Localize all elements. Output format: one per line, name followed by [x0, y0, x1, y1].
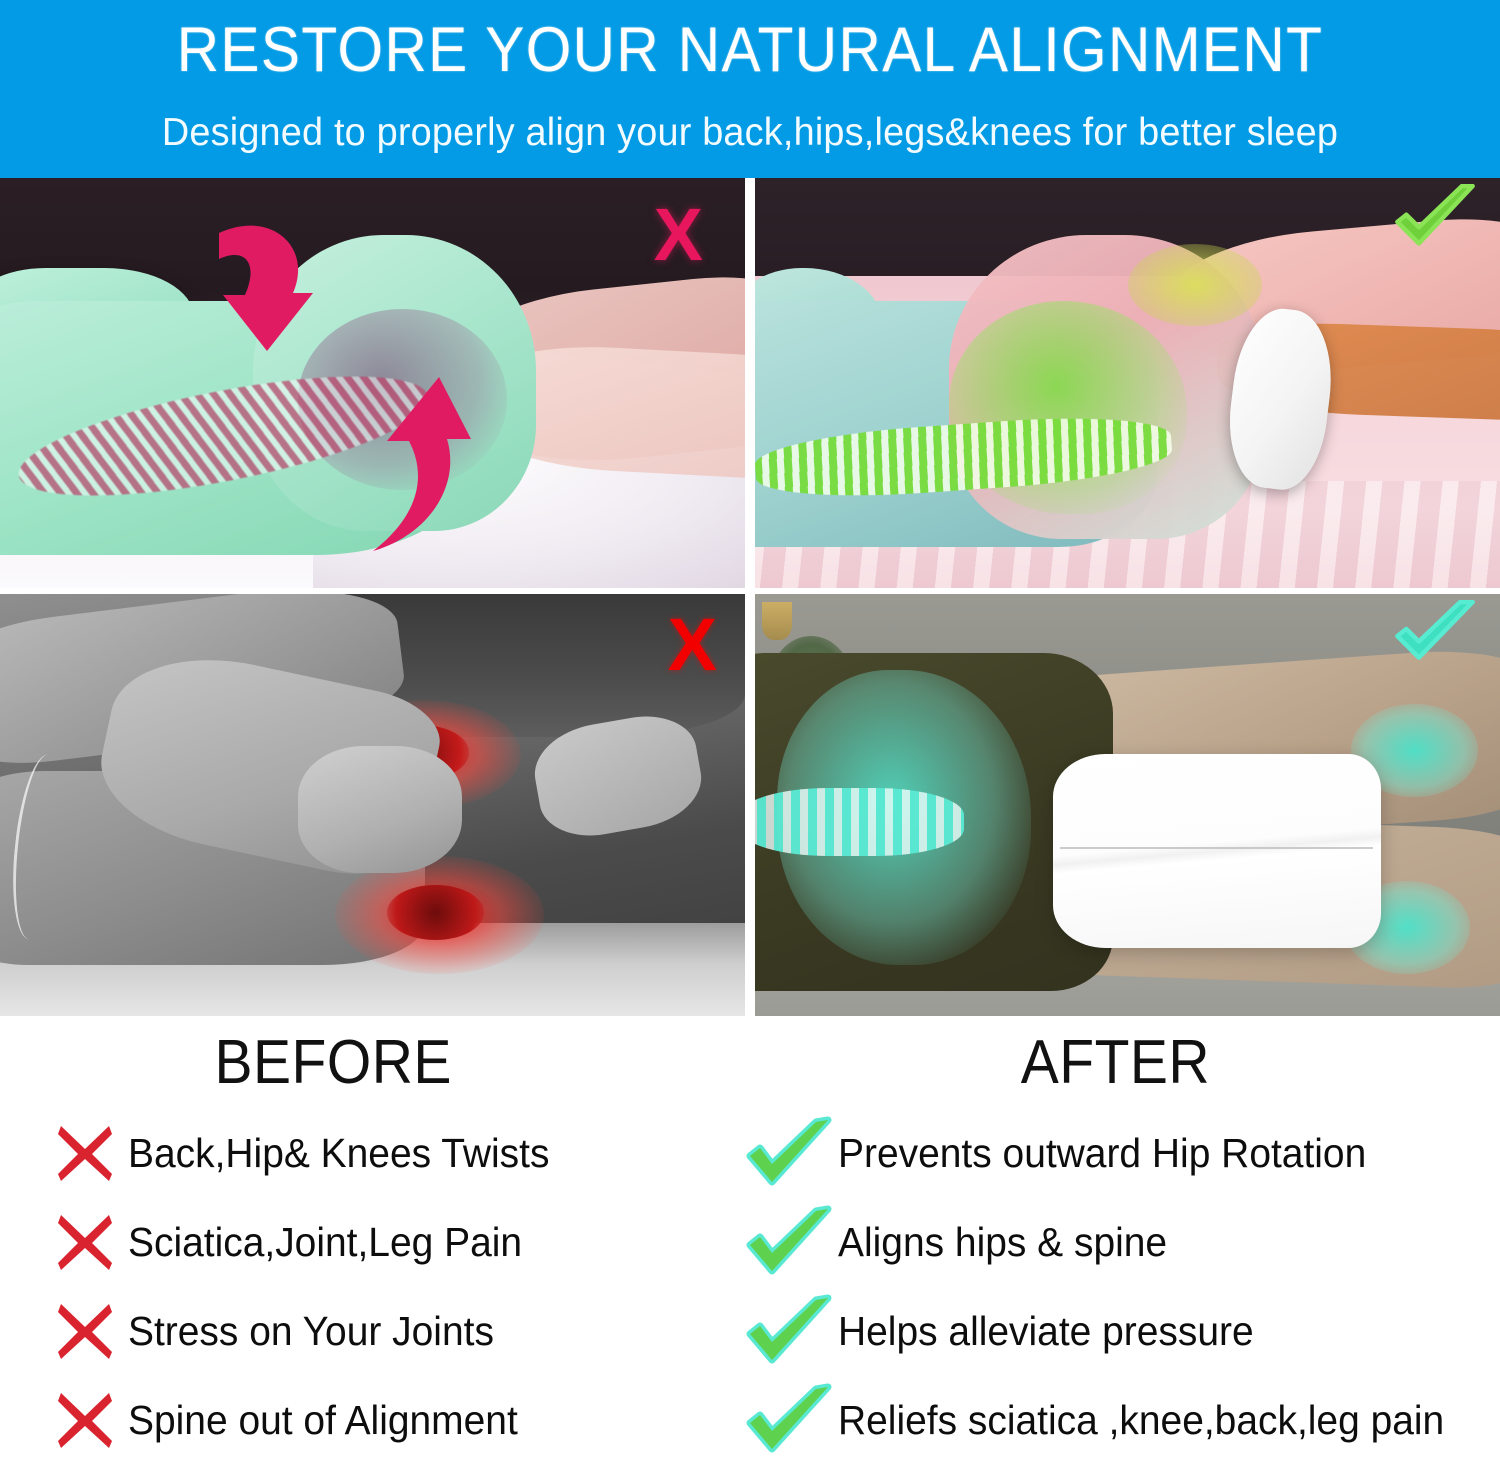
x-mark-overlay-top-left: X	[654, 198, 703, 272]
before-column: BEFORE Back,Hip& Knees Twists Sciatica,J…	[0, 1016, 740, 1447]
list-item: Reliefs sciatica ,knee,back,leg pain	[740, 1375, 1500, 1464]
list-item: Sciatica,Joint,Leg Pain	[0, 1197, 740, 1286]
x-mark-overlay-bottom-left: X	[668, 608, 717, 682]
list-item: Prevents outward Hip Rotation	[740, 1108, 1500, 1197]
product-infographic: RESTORE YOUR NATURAL ALIGNMENT Designed …	[0, 0, 1500, 1447]
check-mark-overlay-top-right	[1392, 184, 1478, 258]
list-item-label: Helps alleviate pressure	[838, 1308, 1254, 1354]
panel-artwork-misaligned	[0, 178, 745, 588]
comparison-image-grid: X	[0, 178, 1500, 1016]
before-heading: BEFORE	[30, 1030, 711, 1096]
check-mark-icon	[746, 1294, 832, 1368]
list-item: Stress on Your Joints	[0, 1286, 740, 1375]
panel-artwork-pillow-support	[755, 594, 1500, 1016]
after-column: AFTER Prevents outward Hip Rotation Alig…	[740, 1016, 1500, 1447]
list-item-label: Prevents outward Hip Rotation	[838, 1130, 1366, 1176]
list-item-label: Back,Hip& Knees Twists	[128, 1130, 549, 1176]
check-mark-icon	[746, 1383, 832, 1457]
check-mark-icon	[746, 1205, 832, 1279]
rotation-arrow-down-icon	[201, 219, 321, 359]
panel-knee-pain: X	[0, 594, 745, 1016]
list-item-label: Spine out of Alignment	[128, 1397, 518, 1443]
page-subtitle: Designed to properly align your back,hip…	[23, 108, 1478, 158]
panel-pillow-support	[755, 594, 1500, 1016]
x-mark-icon	[52, 1387, 118, 1453]
list-item-label: Reliefs sciatica ,knee,back,leg pain	[838, 1397, 1444, 1443]
horizontal-divider	[0, 588, 1500, 594]
panel-aligned-posture	[755, 178, 1500, 588]
list-item-label: Aligns hips & spine	[838, 1219, 1167, 1265]
after-list: Prevents outward Hip Rotation Aligns hip…	[740, 1108, 1500, 1464]
x-mark-icon	[52, 1298, 118, 1364]
list-item: Spine out of Alignment	[0, 1375, 740, 1464]
panel-artwork-knee-pain	[0, 594, 745, 1016]
benefits-comparison: BEFORE Back,Hip& Knees Twists Sciatica,J…	[0, 1016, 1500, 1447]
check-icon	[1392, 184, 1478, 258]
rotation-arrow-up-icon	[343, 367, 473, 557]
list-item: Helps alleviate pressure	[740, 1286, 1500, 1375]
panel-misaligned-posture: X	[0, 178, 745, 588]
check-mark-icon	[746, 1116, 832, 1190]
x-mark-icon	[52, 1120, 118, 1186]
list-item: Aligns hips & spine	[740, 1197, 1500, 1286]
panel-artwork-aligned	[755, 178, 1500, 588]
knee-pillow-product	[1053, 754, 1381, 948]
check-icon	[1392, 600, 1478, 674]
before-list: Back,Hip& Knees Twists Sciatica,Joint,Le…	[0, 1108, 740, 1464]
list-item: Back,Hip& Knees Twists	[0, 1108, 740, 1197]
after-heading: AFTER	[770, 1030, 1469, 1096]
check-mark-overlay-bottom-right	[1392, 600, 1478, 674]
vertical-divider	[745, 178, 755, 1016]
page-title: RESTORE YOUR NATURAL ALIGNMENT	[53, 14, 1448, 86]
list-item-label: Stress on Your Joints	[128, 1308, 494, 1354]
list-item-label: Sciatica,Joint,Leg Pain	[128, 1219, 522, 1265]
x-mark-icon	[52, 1209, 118, 1275]
header-banner: RESTORE YOUR NATURAL ALIGNMENT Designed …	[0, 0, 1500, 178]
